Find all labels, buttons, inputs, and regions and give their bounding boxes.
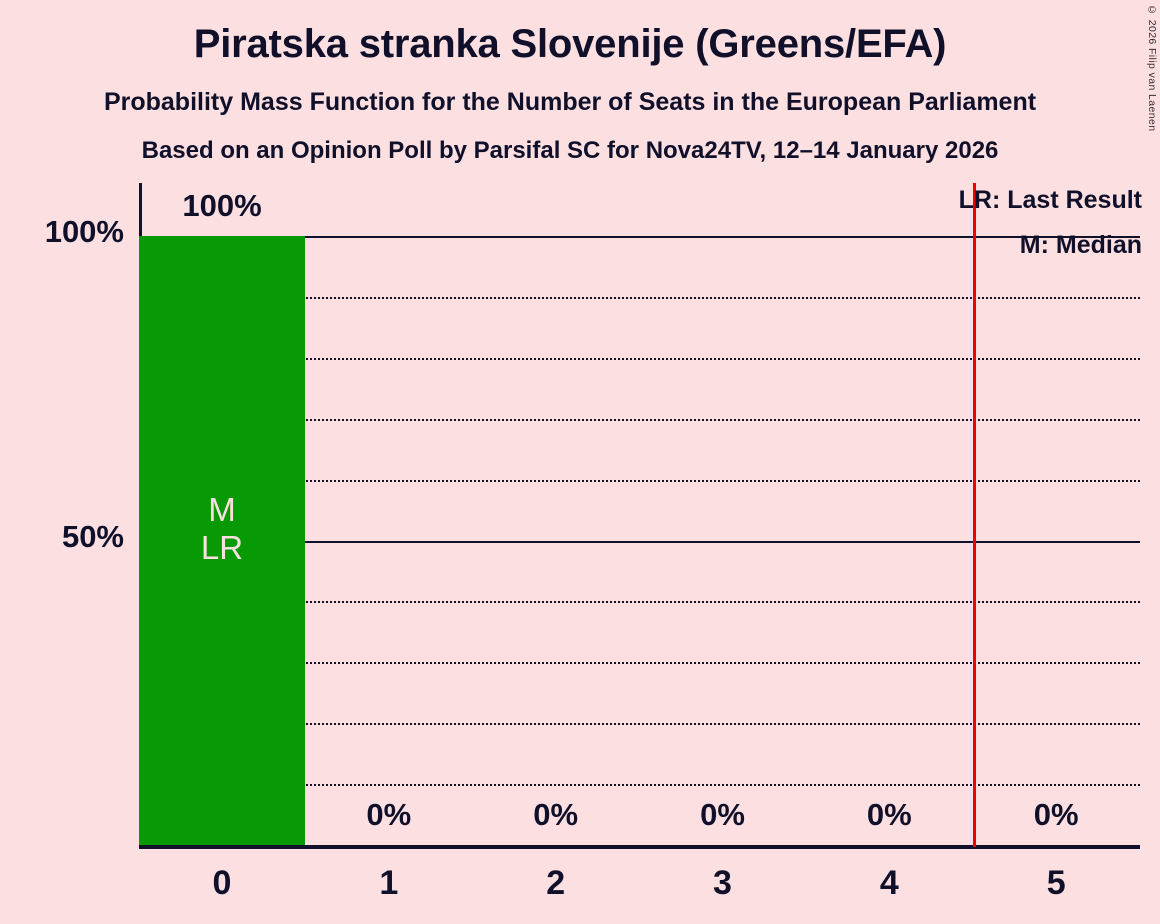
last-result-vertical-line xyxy=(973,183,976,847)
chart-root: Piratska stranka Slovenije (Greens/EFA) … xyxy=(0,0,1160,924)
legend-last-result: LR: Last Result xyxy=(959,186,1142,215)
y-tick-50%: 50% xyxy=(0,519,124,555)
x-tick-5: 5 xyxy=(996,864,1116,903)
legend-median: M: Median xyxy=(1020,231,1142,260)
y-tick-100%: 100% xyxy=(0,214,124,250)
x-tick-2: 2 xyxy=(496,864,616,903)
x-tick-3: 3 xyxy=(663,864,783,903)
copyright-notice: © 2026 Filip van Laenen xyxy=(1146,4,1158,131)
value-label-4: 0% xyxy=(799,797,979,833)
last-result-marker: LR xyxy=(139,529,305,567)
bar-marker-labels: MLR xyxy=(139,491,305,567)
chart-subtitle: Probability Mass Function for the Number… xyxy=(0,88,1140,117)
plot-area: MLR xyxy=(139,236,1140,845)
median-marker: M xyxy=(139,491,305,529)
x-tick-0: 0 xyxy=(162,864,282,903)
value-label-1: 0% xyxy=(299,797,479,833)
bar-0[interactable]: MLR xyxy=(139,236,305,845)
x-tick-4: 4 xyxy=(829,864,949,903)
value-label-3: 0% xyxy=(633,797,813,833)
chart-source-subtitle: Based on an Opinion Poll by Parsifal SC … xyxy=(0,137,1140,165)
chart-title: Piratska stranka Slovenije (Greens/EFA) xyxy=(0,22,1140,67)
value-label-5: 0% xyxy=(966,797,1146,833)
value-label-2: 0% xyxy=(466,797,646,833)
x-tick-1: 1 xyxy=(329,864,449,903)
value-label-0: 100% xyxy=(132,188,312,224)
x-axis-line xyxy=(139,845,1140,849)
